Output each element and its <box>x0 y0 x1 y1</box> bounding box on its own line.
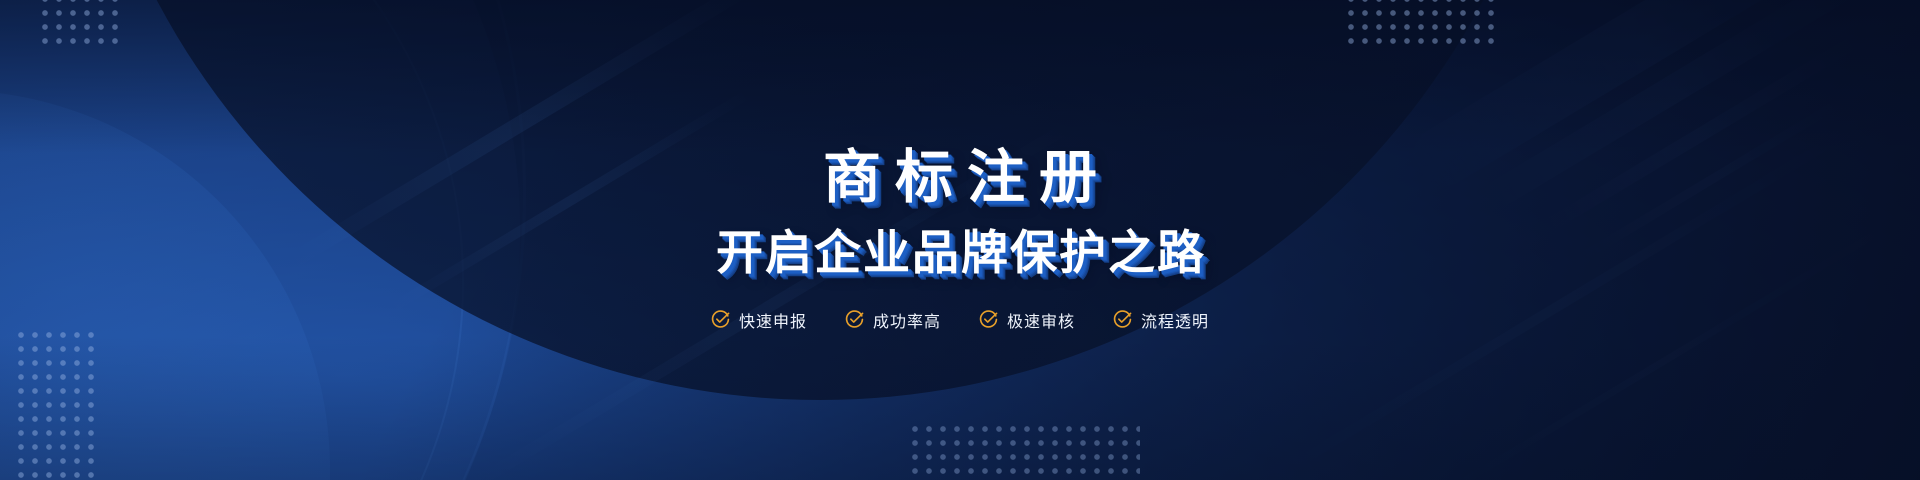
banner-title: 商标注册 <box>809 149 1111 207</box>
check-circle-icon <box>979 310 998 329</box>
feature-item-fast-review: 极速审核 <box>979 308 1075 332</box>
feature-item-fast-filing: 快速申报 <box>711 308 807 332</box>
feature-item-transparent-process: 流程透明 <box>1113 308 1209 332</box>
feature-label: 极速审核 <box>1007 308 1075 332</box>
banner-subtitle: 开启企业品牌保护之路 <box>714 229 1206 276</box>
check-circle-icon <box>1113 310 1132 329</box>
feature-label: 快速申报 <box>739 308 807 332</box>
feature-label: 流程透明 <box>1141 308 1209 332</box>
check-circle-icon <box>711 310 730 329</box>
check-circle-icon <box>845 310 864 329</box>
feature-label: 成功率高 <box>873 308 941 332</box>
banner-content: 商标注册 开启企业品牌保护之路 快速申报 <box>0 0 1920 480</box>
feature-item-high-success-rate: 成功率高 <box>845 308 941 332</box>
feature-list: 快速申报 成功率高 极速审核 <box>711 308 1209 332</box>
trademark-registration-banner: 商标注册 开启企业品牌保护之路 快速申报 <box>0 0 1920 480</box>
